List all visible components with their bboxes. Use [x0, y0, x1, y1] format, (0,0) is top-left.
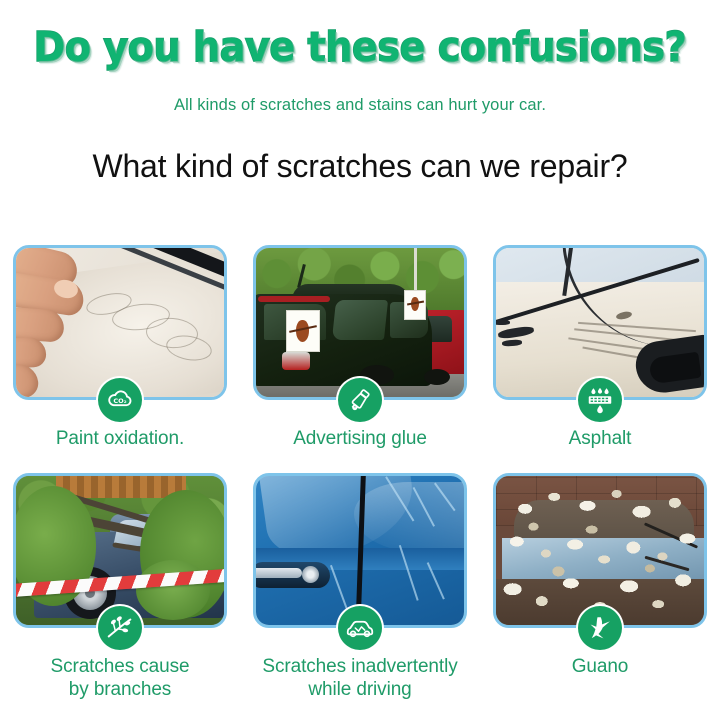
thumbnail-frame[interactable]	[13, 245, 227, 400]
hand-on-oxidized-white-paint-photo	[16, 248, 224, 397]
thumbnail-frame[interactable]	[493, 473, 707, 628]
thumbnail-frame[interactable]	[253, 245, 467, 400]
grid-item[interactable]: Asphalt	[480, 245, 720, 473]
car-scratch-icon	[338, 606, 382, 650]
co2-cloud-icon: CO₂	[98, 378, 142, 422]
tile-caption: Paint oxidation.	[56, 427, 184, 450]
section-question-heading: What kind of scratches can we repair?	[0, 148, 720, 185]
grid-item[interactable]: Guano	[480, 473, 720, 709]
promo-page: Do you have these confusions? All kinds …	[0, 0, 720, 720]
tile-caption: Scratches inadvertently while driving	[262, 655, 457, 701]
fallen-branch-on-blue-car-photo	[16, 476, 224, 625]
tile-caption: Guano	[572, 655, 629, 678]
thumbnail-frame[interactable]	[13, 473, 227, 628]
asphalt-road-droplet-icon	[578, 378, 622, 422]
page-title: Do you have these confusions?	[25, 22, 695, 72]
tile-caption: Advertising glue	[293, 427, 427, 450]
svg-text:CO₂: CO₂	[113, 397, 126, 405]
grid-item[interactable]: Scratches inadvertently while driving	[240, 473, 480, 709]
thumbnail-frame[interactable]	[493, 245, 707, 400]
blue-car-door-scratches-photo	[256, 476, 464, 625]
tile-caption: Asphalt	[569, 427, 632, 450]
scratch-type-grid: CO₂ Paint oxidation.	[0, 245, 720, 709]
grid-item[interactable]: Scratches cause by branches	[0, 473, 240, 709]
tree-branch-icon	[98, 606, 142, 650]
grid-item[interactable]: CO₂ Paint oxidation.	[0, 245, 240, 473]
thumbnail-frame[interactable]	[253, 473, 467, 628]
tile-caption: Scratches cause by branches	[51, 655, 190, 701]
cream-car-panel-with-tar-scratches-photo	[496, 248, 704, 397]
grid-item[interactable]: Advertising glue	[240, 245, 480, 473]
flying-bird-icon	[578, 606, 622, 650]
page-subtitle: All kinds of scratches and stains can hu…	[0, 96, 720, 115]
glue-bottle-icon	[338, 378, 382, 422]
dark-car-with-taped-posters-photo	[256, 248, 464, 397]
car-covered-in-bird-droppings-photo	[496, 476, 704, 625]
